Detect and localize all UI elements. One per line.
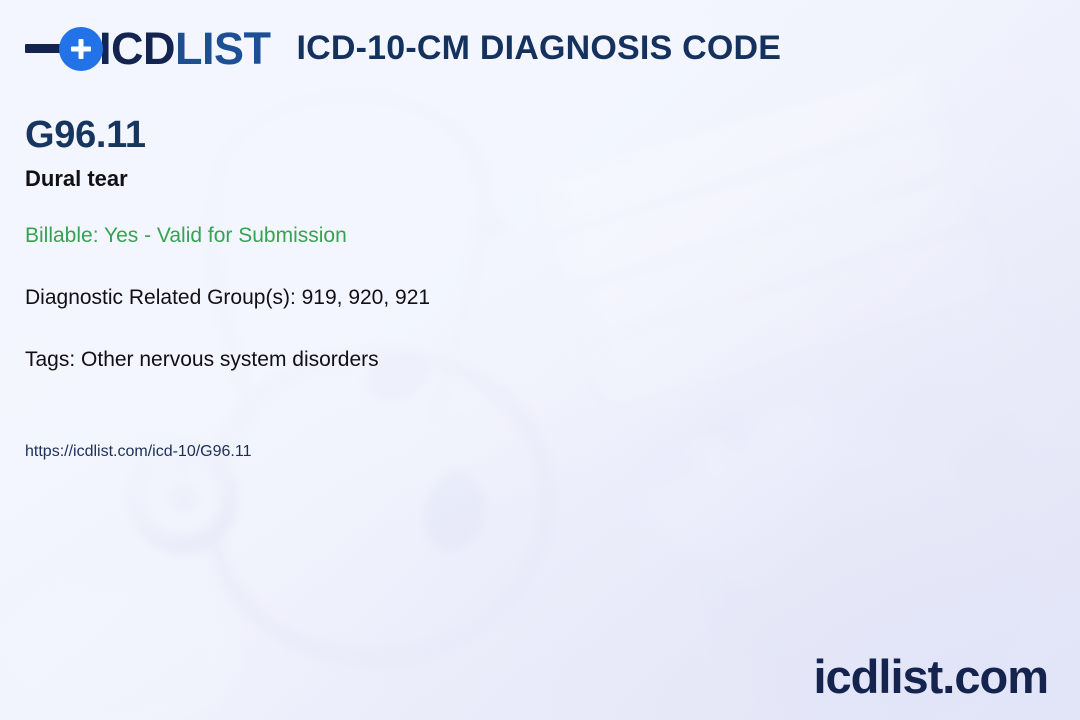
page-title: ICD-10-CM DIAGNOSIS CODE [297,29,782,68]
site-watermark: icdlist.com [813,653,1048,700]
header-bar: ICDLIST ICD-10-CM DIAGNOSIS CODE [25,26,781,71]
logo-word-icd: ICD [99,23,175,74]
drg-list: Diagnostic Related Group(s): 919, 920, 9… [25,286,430,309]
logo-wordmark: ICDLIST [99,26,271,71]
source-url[interactable]: https://icdlist.com/icd-10/G96.11 [25,443,251,461]
plus-icon [59,27,103,71]
icd-code-value: G96.11 [25,116,146,154]
billable-status: Billable: Yes - Valid for Submission [25,224,347,247]
tags-list: Tags: Other nervous system disorders [25,348,379,371]
logo-word-list: LIST [175,23,271,74]
card-content: ICDLIST ICD-10-CM DIAGNOSIS CODE G96.11 … [0,0,1080,720]
icd-code-description: Dural tear [25,167,128,191]
icd-code-card: ICDLIST ICD-10-CM DIAGNOSIS CODE G96.11 … [0,0,1080,720]
icdlist-logo[interactable]: ICDLIST [25,26,271,71]
